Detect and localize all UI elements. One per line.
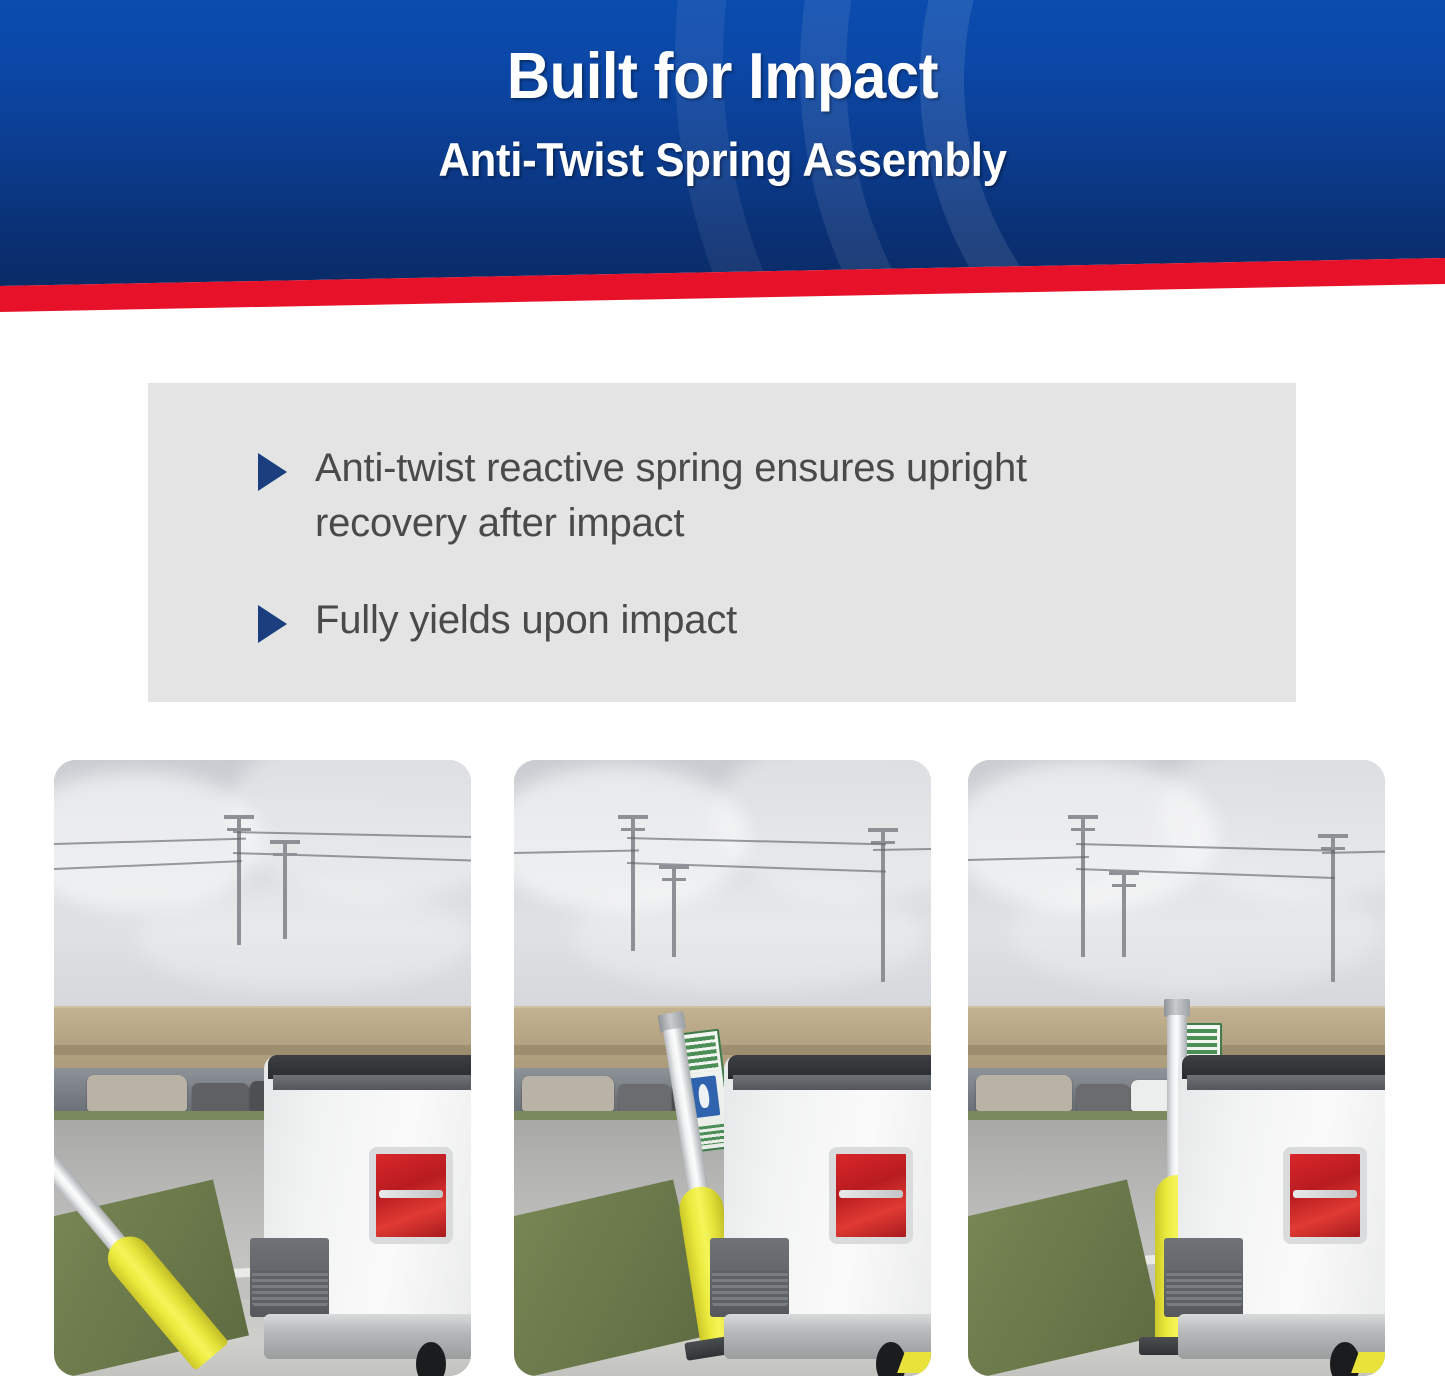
feature-list-panel: Anti-twist reactive spring ensures uprig… [148, 383, 1296, 702]
triangle-right-icon [258, 605, 287, 643]
bumper-step [1164, 1238, 1243, 1317]
sky [514, 760, 931, 1031]
pickup-truck [710, 1031, 931, 1376]
list-item: Fully yields upon impact [258, 593, 1236, 648]
page-title: Built for Impact [58, 0, 1387, 110]
utility-pole [283, 840, 287, 939]
photo-post-recovering [514, 760, 931, 1376]
sky [968, 760, 1385, 1031]
utility-pole [672, 865, 676, 957]
sky [54, 760, 471, 1031]
utility-pole [631, 815, 635, 951]
bumper-step [250, 1238, 329, 1317]
taillight [829, 1147, 912, 1244]
taillight [1283, 1147, 1366, 1244]
feature-bullet-text: Anti-twist reactive spring ensures uprig… [315, 441, 1175, 551]
triangle-right-icon [258, 453, 287, 491]
utility-pole [1122, 871, 1126, 957]
photo-post-upright [968, 760, 1385, 1376]
taillight [369, 1147, 452, 1244]
header-text-block: Built for Impact Anti-Twist Spring Assem… [0, 0, 1445, 187]
page-subtitle: Anti-Twist Spring Assembly [51, 110, 1395, 187]
wheel-chock [898, 1352, 931, 1373]
pickup-truck [1164, 1031, 1385, 1376]
utility-pole [1331, 834, 1335, 982]
utility-pole [237, 815, 241, 944]
wheel-chock [1352, 1352, 1385, 1373]
feature-bullet-text: Fully yields upon impact [315, 593, 737, 648]
photo-gallery [0, 760, 1445, 1378]
photo-post-fully-bent [54, 760, 471, 1376]
bumper-step [710, 1238, 789, 1317]
utility-pole [1081, 815, 1085, 957]
pickup-truck [250, 1031, 471, 1376]
list-item: Anti-twist reactive spring ensures uprig… [258, 441, 1236, 551]
header-banner: Built for Impact Anti-Twist Spring Assem… [0, 0, 1445, 318]
